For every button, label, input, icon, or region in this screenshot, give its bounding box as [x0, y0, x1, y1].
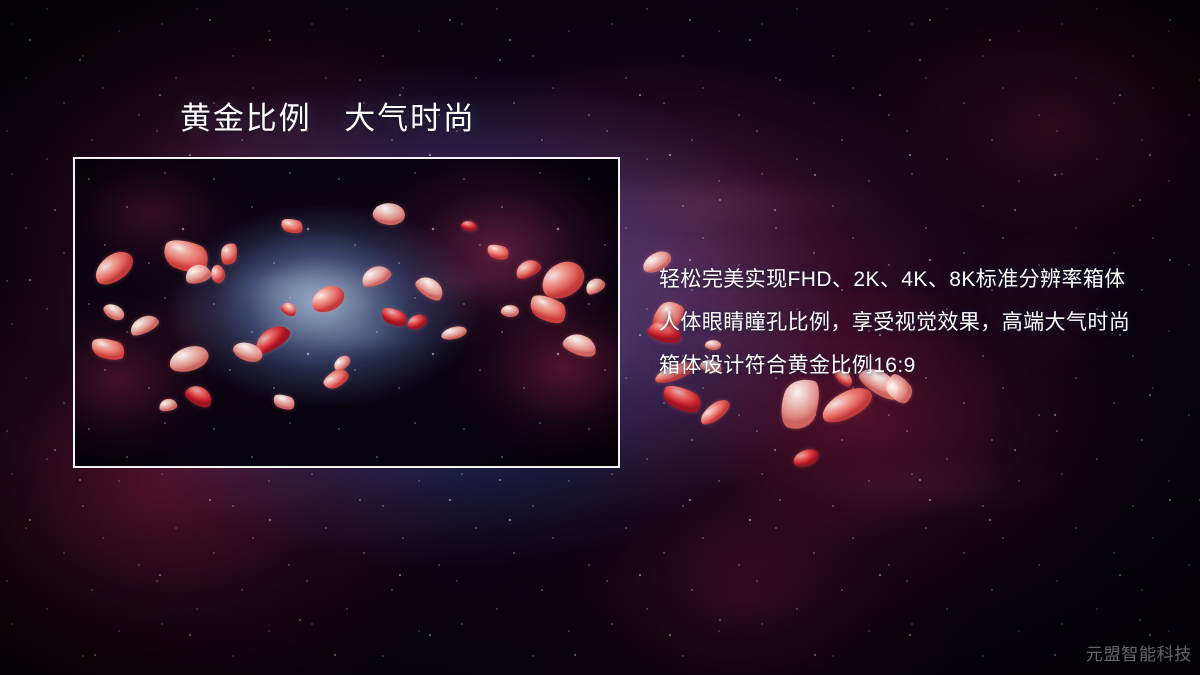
- preview-image: [75, 159, 618, 466]
- petal: [485, 242, 510, 263]
- petal: [89, 246, 138, 290]
- description-line-2: 人体眼睛瞳孔比例，享受视觉效果，高端大气时尚: [659, 301, 1179, 344]
- petal: [696, 396, 733, 428]
- petal: [440, 325, 468, 341]
- petal: [279, 300, 299, 318]
- petal: [182, 381, 215, 410]
- feature-description: 轻松完美实现FHD、2K、4K、8K标准分辨率箱体 人体眼睛瞳孔比例，享受视觉效…: [659, 258, 1179, 387]
- petal: [167, 343, 211, 375]
- petal-field-preview: [75, 159, 618, 466]
- petal: [791, 447, 820, 469]
- petal: [127, 311, 161, 339]
- petal: [583, 275, 607, 297]
- petal: [279, 216, 304, 236]
- petal: [208, 263, 227, 285]
- description-line-1: 轻松完美实现FHD、2K、4K、8K标准分辨率箱体: [659, 258, 1179, 301]
- petal: [513, 256, 543, 282]
- description-line-3: 箱体设计符合黄金比例16:9: [659, 344, 1179, 387]
- slide-canvas: 黄金比例 大气时尚 轻松完美实现FHD、2K、4K、8K标准分辨率箱体 人体眼睛…: [0, 0, 1200, 675]
- petal: [308, 282, 348, 315]
- petal: [406, 313, 429, 331]
- petal: [500, 304, 519, 318]
- petal: [271, 391, 297, 412]
- petal: [101, 300, 127, 324]
- petal: [460, 219, 478, 233]
- petal: [371, 200, 407, 228]
- petal: [817, 382, 877, 428]
- petal: [413, 272, 448, 304]
- display-preview-frame[interactable]: [73, 157, 620, 468]
- brand-watermark: 元盟智能科技: [1086, 640, 1192, 665]
- page-title: 黄金比例 大气时尚: [180, 101, 476, 137]
- petal: [89, 334, 128, 364]
- petal: [561, 330, 600, 360]
- petal: [219, 242, 239, 266]
- petal: [158, 397, 178, 412]
- petal: [379, 304, 409, 330]
- petal: [359, 262, 394, 290]
